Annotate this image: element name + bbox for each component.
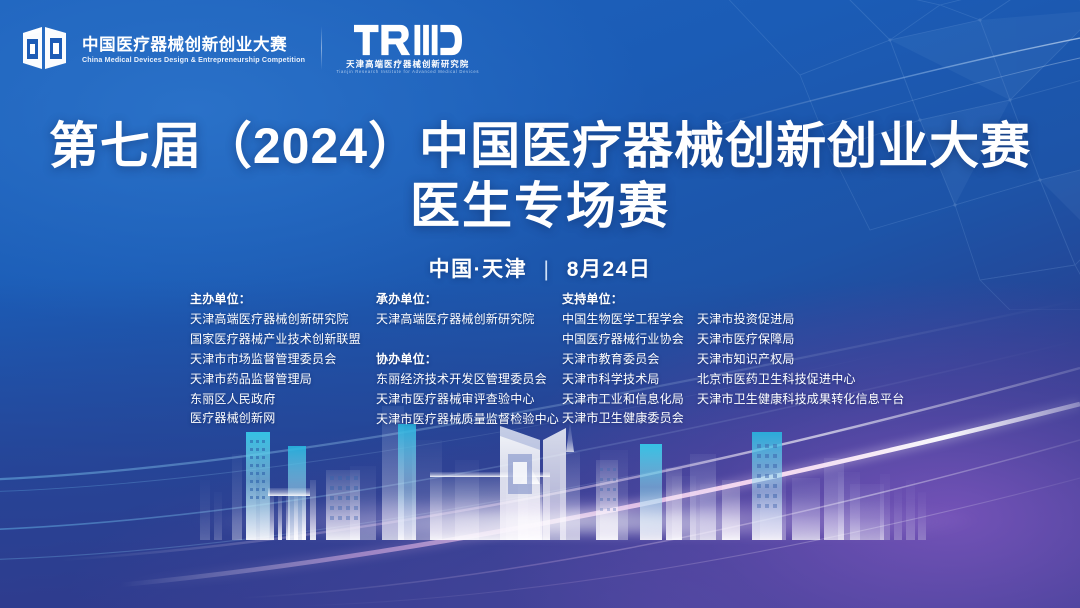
supporter-item: 北京市医药卫生科技促进中心 xyxy=(697,370,907,390)
supporter-item: 天津市卫生健康科技成果转化信息平台 xyxy=(697,390,907,410)
event-poster: 中国医疗器械创新创业大赛 China Medical Devices Desig… xyxy=(0,0,1080,608)
institute-name-cn: 天津高端医疗器械创新研究院 xyxy=(346,60,469,68)
organizer-column-host: 主办单位： 天津高端医疗器械创新研究院 国家医疗器械产业技术创新联盟 天津市市场… xyxy=(190,290,376,429)
host-item: 天津市药品监督管理局 xyxy=(190,370,376,390)
competition-logo: 中国医疗器械创新创业大赛 China Medical Devices Desig… xyxy=(20,23,307,73)
co-organizer-item: 天津市医疗器械审评查验中心 xyxy=(376,390,562,410)
supporter-item: 天津市科学技术局 xyxy=(562,370,697,390)
organizer-column-supporter-a: 支持单位： 中国生物医学工程学会 中国医疗器械行业协会 天津市教育委员会 天津市… xyxy=(562,290,697,429)
organizer-column-supporter-b: 天津市投资促进局 天津市医疗保障局 天津市知识产权局 北京市医药卫生科技促进中心… xyxy=(697,290,907,429)
co-organizer-heading: 协办单位： xyxy=(376,350,562,370)
institute-name-en: Tianjin Research Institute for Advanced … xyxy=(336,70,479,74)
supporter-item: 天津市医疗保障局 xyxy=(697,330,907,350)
organizer-heading: 承办单位： xyxy=(376,290,562,310)
column-spacer xyxy=(376,330,562,350)
title-line-1: 第七届（2024）中国医疗器械创新创业大赛 xyxy=(0,118,1080,175)
supporter-item: 天津市教育委员会 xyxy=(562,350,697,370)
meta-separator: | xyxy=(543,258,550,282)
host-item: 东丽区人民政府 xyxy=(190,390,376,410)
event-location: 中国·天津 xyxy=(429,258,528,281)
event-meta: 中国·天津 | 8月24日 xyxy=(0,253,1080,283)
host-heading: 主办单位： xyxy=(190,290,376,310)
event-date: 8月24日 xyxy=(567,258,652,281)
organizer-column-organizer: 承办单位： 天津高端医疗器械创新研究院 协办单位： 东丽经济技术开发区管理委员会… xyxy=(376,290,562,429)
supporter-item: 中国医疗器械行业协会 xyxy=(562,330,697,350)
institute-logo: 天津高端医疗器械创新研究院 Tianjin Research Institute… xyxy=(336,22,479,75)
supporter-item: 天津市卫生健康委员会 xyxy=(562,409,697,429)
co-organizer-item: 天津市医疗器械质量监督检验中心 xyxy=(376,410,562,430)
competition-name-cn: 中国医疗器械创新创业大赛 xyxy=(82,37,307,54)
host-item: 天津市市场监督管理委员会 xyxy=(190,350,376,370)
organizer-item: 天津高端医疗器械创新研究院 xyxy=(376,310,562,330)
supporter-item: 天津市投资促进局 xyxy=(697,310,907,330)
poster-title: 第七届（2024）中国医疗器械创新创业大赛 医生专场赛 xyxy=(0,118,1080,236)
open-door-book-logo-icon xyxy=(20,23,72,73)
title-line-2: 医生专场赛 xyxy=(0,177,1080,236)
organizer-columns: 主办单位： 天津高端医疗器械创新研究院 国家医疗器械产业技术创新联盟 天津市市场… xyxy=(190,290,988,429)
logo-divider xyxy=(321,26,322,70)
supporter-item: 中国生物医学工程学会 xyxy=(562,310,697,330)
host-item: 天津高端医疗器械创新研究院 xyxy=(190,310,376,330)
host-item: 国家医疗器械产业技术创新联盟 xyxy=(190,330,376,350)
competition-name-en: China Medical Devices Design & Entrepren… xyxy=(82,56,305,64)
trimd-wordmark-icon xyxy=(354,22,462,58)
supporter-heading: 支持单位： xyxy=(562,290,697,310)
poster-header: 中国医疗器械创新创业大赛 China Medical Devices Desig… xyxy=(20,22,479,75)
co-organizer-item: 东丽经济技术开发区管理委员会 xyxy=(376,370,562,390)
host-item: 医疗器械创新网 xyxy=(190,409,376,429)
supporter-item: 天津市工业和信息化局 xyxy=(562,390,697,410)
supporter-item: 天津市知识产权局 xyxy=(697,350,907,370)
supporter-heading-spacer xyxy=(697,290,907,310)
